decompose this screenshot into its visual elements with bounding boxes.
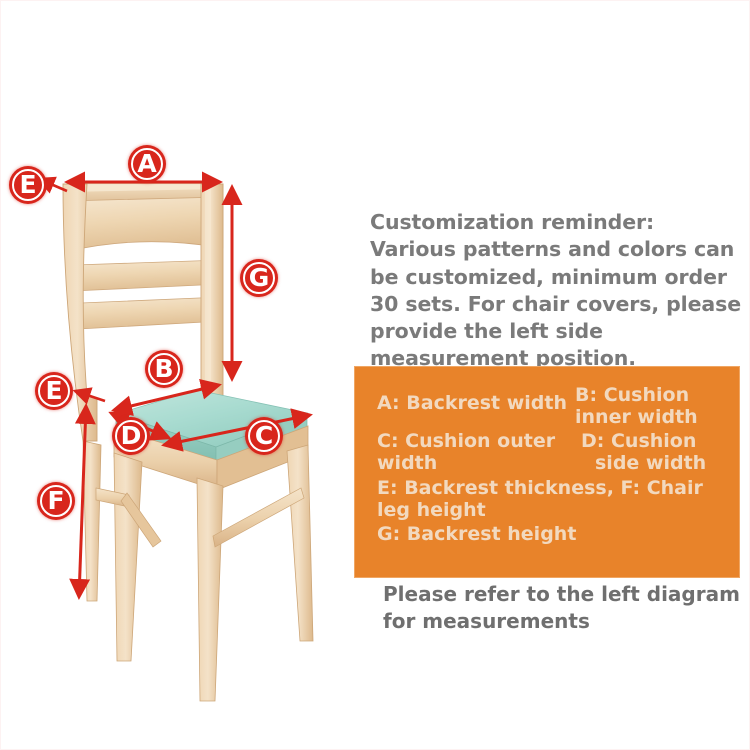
chair-diagram: E A G B E D C F xyxy=(1,1,361,750)
marker-F: F xyxy=(37,482,75,520)
legend-item-EF: E: Backrest thickness, F: Chair leg heig… xyxy=(377,478,717,522)
leg-front-right xyxy=(197,478,223,701)
legend-item-B-line2: inner width xyxy=(575,406,698,428)
backrest-right-post-highlight xyxy=(205,186,211,397)
legend-row-2: C: Cushion outer width D: Cushion side w… xyxy=(377,431,729,475)
legend-row-4: G: Backrest height xyxy=(377,524,729,546)
legend-item-A: A: Backrest width xyxy=(377,385,575,415)
legend-item-D: D: Cushion side width xyxy=(575,431,725,475)
measurement-legend-grid: A: Backrest width B: Cushion inner width… xyxy=(355,367,739,577)
marker-D: D xyxy=(112,417,150,455)
legend-row-3: E: Backrest thickness, F: Chair leg heig… xyxy=(377,478,729,522)
measurement-legend-box: A: Backrest width B: Cushion inner width… xyxy=(354,366,740,578)
marker-G: G xyxy=(240,259,278,297)
legend-item-G: G: Backrest height xyxy=(377,524,717,546)
info-panel: Customization reminder: Various patterns… xyxy=(361,1,750,750)
legend-row-1: A: Backrest width B: Cushion inner width xyxy=(377,385,729,429)
marker-C: C xyxy=(245,417,283,455)
leg-front-left xyxy=(114,453,142,661)
marker-B: B xyxy=(145,350,183,388)
backrest-right-post xyxy=(201,184,223,399)
legend-item-C: C: Cushion outer width xyxy=(377,431,575,475)
legend-item-C-line1: C: Cushion outer xyxy=(377,430,555,452)
leg-rear-right xyxy=(287,445,313,641)
legend-item-EF-line1: E: Backrest thickness, F: Chair xyxy=(377,477,703,499)
customization-reminder-text: Customization reminder: Various patterns… xyxy=(370,209,742,373)
leg-rear-left xyxy=(83,441,101,601)
legend-item-EF-line2: leg height xyxy=(377,499,486,521)
product-measurement-infographic: E A G B E D C F Customization reminder: … xyxy=(0,0,750,750)
marker-E-bottom: E xyxy=(35,372,73,410)
legend-item-D-line1: D: Cushion xyxy=(581,430,696,452)
backrest-slat-1 xyxy=(73,260,222,291)
marker-E-top: E xyxy=(9,166,47,204)
backrest-upper-panel xyxy=(65,197,223,251)
footnote-text: Please refer to the left diagram for mea… xyxy=(383,581,743,635)
stretcher-right xyxy=(213,488,304,547)
legend-item-C-line2: width xyxy=(377,452,437,474)
legend-item-B-line1: B: Cushion xyxy=(575,384,689,406)
marker-A: A xyxy=(128,145,166,183)
legend-item-D-line2: side width xyxy=(581,453,725,475)
legend-item-B: B: Cushion inner width xyxy=(575,385,725,429)
